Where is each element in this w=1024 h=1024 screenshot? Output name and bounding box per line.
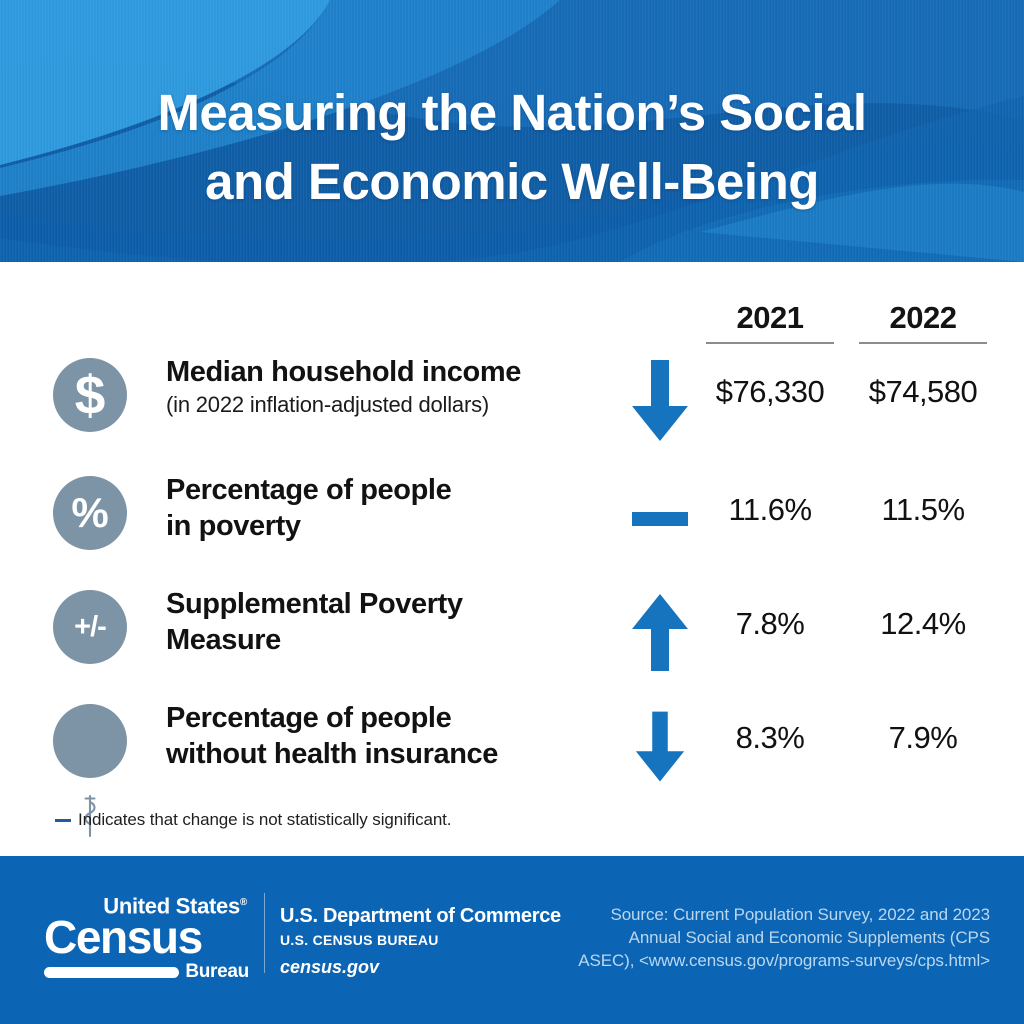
main-content: 2021 2022 $ Median household income (in … <box>0 262 1024 856</box>
department-name: U.S. Department of Commerce <box>280 903 561 929</box>
value-2022: $74,580 <box>859 374 987 410</box>
row-label-text-line2: Measure <box>166 622 596 658</box>
footnote-text: Indicates that change is not statistical… <box>78 810 451 830</box>
census-bureau-logo: United States® Census Bureau <box>44 892 249 983</box>
value-2022: 11.5% <box>859 492 987 528</box>
star-of-life-icon <box>53 704 127 778</box>
department-block: U.S. Department of Commerce U.S. CENSUS … <box>280 903 561 980</box>
logo-bar-row: Bureau <box>44 961 249 983</box>
dash-no-change-icon-shape <box>632 512 688 526</box>
logo-bureau-text: Bureau <box>185 961 249 983</box>
title-line-2: and Economic Well-Being <box>0 147 1024 216</box>
column-header-2022: 2022 <box>859 300 987 346</box>
registered-mark-icon: ® <box>240 897 247 908</box>
bureau-name: U.S. CENSUS BUREAU <box>280 929 561 951</box>
percent-sign-icon: % <box>53 476 127 550</box>
value-2021: 11.6% <box>706 492 834 528</box>
dollar-sign-icon-glyph: $ <box>53 358 127 432</box>
row-label-text: Supplemental Poverty <box>166 586 596 622</box>
arrow-up-icon-shape <box>631 594 689 672</box>
plus-minus-icon-glyph: +/- <box>53 590 127 664</box>
value-2021: $76,330 <box>706 374 834 410</box>
column-header-2021-label: 2021 <box>706 300 834 336</box>
table-row: Percentage of people without health insu… <box>0 702 1024 808</box>
row-label-text: Median household income <box>166 354 596 390</box>
footnote: Indicates that change is not statistical… <box>55 810 755 830</box>
row-label-percentage-without-health-insurance: Percentage of people without health insu… <box>166 700 596 772</box>
table-row: % Percentage of people in poverty 11.6% … <box>0 474 1024 580</box>
value-2022: 12.4% <box>859 606 987 642</box>
logo-census-wordmark: Census <box>44 915 249 959</box>
column-header-2021: 2021 <box>706 300 834 346</box>
dollar-sign-icon: $ <box>53 358 127 432</box>
row-label-percentage-in-poverty: Percentage of people in poverty <box>166 472 596 544</box>
plus-minus-icon: +/- <box>53 590 127 664</box>
value-2021: 8.3% <box>706 720 834 756</box>
arrow-down-icon-shape <box>635 709 685 785</box>
row-sublabel-text: (in 2022 inflation-adjusted dollars) <box>166 391 596 419</box>
arrow-down-icon-shape <box>631 360 689 442</box>
row-label-text-line2: in poverty <box>166 508 596 544</box>
row-label-text: Percentage of people <box>166 700 596 736</box>
row-label-text: Percentage of people <box>166 472 596 508</box>
dash-no-change-icon <box>618 474 702 564</box>
table-row: +/- Supplemental Poverty Measure 7.8% 12… <box>0 588 1024 694</box>
dash-icon <box>55 819 71 822</box>
value-2021: 7.8% <box>706 606 834 642</box>
title-line-1: Measuring the Nation’s Social <box>157 84 866 141</box>
column-header-2022-label: 2022 <box>859 300 987 336</box>
header-banner: Measuring the Nation’s Social and Econom… <box>0 0 1024 262</box>
census-gov-link[interactable]: census.gov <box>280 954 561 980</box>
row-label-text-line2: without health insurance <box>166 736 596 772</box>
logo-bar <box>44 967 179 978</box>
percent-sign-icon-glyph: % <box>53 476 127 550</box>
arrow-down-icon <box>618 356 702 446</box>
source-citation: Source: Current Population Survey, 2022 … <box>570 903 990 972</box>
row-label-median-household-income: Median household income (in 2022 inflati… <box>166 354 596 419</box>
arrow-down-icon <box>618 702 702 792</box>
page-title: Measuring the Nation’s Social and Econom… <box>0 78 1024 216</box>
arrow-up-icon <box>618 588 702 678</box>
table-row: $ Median household income (in 2022 infla… <box>0 356 1024 462</box>
row-label-supplemental-poverty-measure: Supplemental Poverty Measure <box>166 586 596 658</box>
infographic-page: Measuring the Nation’s Social and Econom… <box>0 0 1024 1024</box>
footer-divider <box>264 893 265 973</box>
column-header-2021-rule <box>706 342 834 344</box>
value-2022: 7.9% <box>859 720 987 756</box>
column-header-2022-rule <box>859 342 987 344</box>
